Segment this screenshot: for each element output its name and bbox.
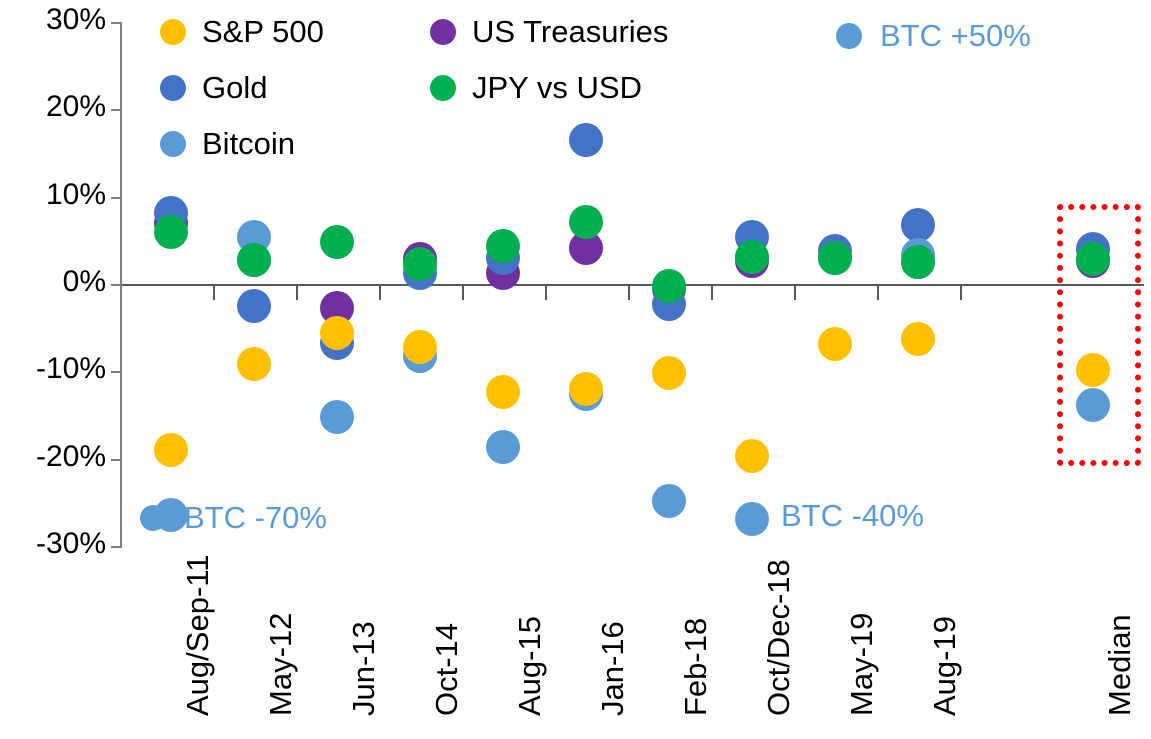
data-point [569,205,603,239]
y-axis-tick-label: -30% [36,529,106,559]
x-axis-tick [877,284,879,300]
x-axis-category-label: Jan-16 [597,621,628,716]
annotation-marker-icon [140,505,166,531]
legend-marker-icon [160,19,186,45]
legend-marker-icon [430,19,456,45]
y-axis-tick-label: 10% [46,180,106,210]
data-point [901,322,935,356]
x-axis-category-label: Oct/Dec-18 [763,559,794,716]
x-axis-category-label: Aug/Sep-11 [182,555,213,716]
chart-container: 30%20%10%0%-10%-20%-30% Aug/Sep-11May-12… [0,0,1151,739]
data-point [154,433,188,467]
data-point [486,375,520,409]
data-point [735,439,769,473]
data-point [652,356,686,390]
x-axis-tick [379,284,381,300]
data-point [486,229,520,263]
data-point [818,241,852,275]
legend-item-jpy-vs-usd[interactable]: JPY vs USD [430,70,642,106]
legend-item-gold[interactable]: Gold [160,70,267,106]
data-point [569,372,603,406]
x-axis-category-label: Aug-15 [514,616,545,716]
annotation-marker-icon [737,503,763,529]
y-axis-tick [111,22,122,24]
data-point [818,327,852,361]
legend-marker-icon [430,75,456,101]
annotation-label: BTC +50% [880,18,1031,54]
data-point [652,484,686,518]
data-point [320,400,354,434]
x-axis-tick [545,284,547,300]
data-point [403,330,437,364]
data-point [320,316,354,350]
y-axis-tick [111,109,122,111]
data-point [403,247,437,281]
legend-marker-icon [160,131,186,157]
legend-item-s-p-500[interactable]: S&P 500 [160,14,324,50]
data-point [652,269,686,303]
zero-baseline [120,284,1144,286]
y-axis-tick-label: 20% [46,92,106,122]
annotation-btc-minus-40: BTC -40% [737,498,924,534]
annotation-btc-plus-50: BTC +50% [836,18,1031,54]
y-axis-tick [111,459,122,461]
x-axis-tick [628,284,630,300]
x-axis-tick [711,284,713,300]
y-axis-tick-label: -20% [36,442,106,472]
y-axis-tick [111,371,122,373]
y-axis-tick-label: 0% [63,267,106,297]
data-point [154,215,188,249]
annotation-label: BTC -40% [781,498,924,534]
legend-label: S&P 500 [202,14,324,50]
data-point [1076,388,1110,422]
y-axis-tick-label: -10% [36,354,106,384]
y-axis-tick [111,546,122,548]
legend-label: Bitcoin [202,126,295,162]
data-point [1076,353,1110,387]
y-axis-tick [111,284,122,286]
x-axis-category-label: Median [1104,614,1135,716]
y-axis-tick [111,197,122,199]
legend-item-us-treasuries[interactable]: US Treasuries [430,14,668,50]
data-point [735,240,769,274]
x-axis-tick [794,284,796,300]
x-axis-tick [462,284,464,300]
x-axis-tick [960,284,962,300]
data-point [237,243,271,277]
legend-label: Gold [202,70,267,106]
x-axis-category-label: Aug-19 [929,616,960,716]
x-axis-category-label: Jun-13 [348,621,379,716]
x-axis-category-label: May-12 [265,613,296,716]
annotation-btc-minus-70: BTC -70% [140,500,327,536]
data-point [237,347,271,381]
x-axis-tick [213,284,215,300]
x-axis-category-label: Oct-14 [431,623,462,716]
data-point [901,245,935,279]
legend-label: JPY vs USD [472,70,642,106]
legend-item-bitcoin[interactable]: Bitcoin [160,126,295,162]
data-point [901,208,935,242]
data-point [320,225,354,259]
chart-legend: S&P 500GoldBitcoinUS TreasuriesJPY vs US… [160,14,860,184]
x-axis-category-label: May-19 [846,613,877,716]
x-axis-category-label: Feb-18 [680,618,711,716]
y-axis-tick-label: 30% [46,5,106,35]
legend-label: US Treasuries [472,14,668,50]
annotation-label: BTC -70% [184,500,327,536]
annotation-marker-icon [836,23,862,49]
legend-marker-icon [160,75,186,101]
data-point [1076,242,1110,276]
data-point [486,430,520,464]
x-axis-tick [296,284,298,300]
data-point [237,289,271,323]
